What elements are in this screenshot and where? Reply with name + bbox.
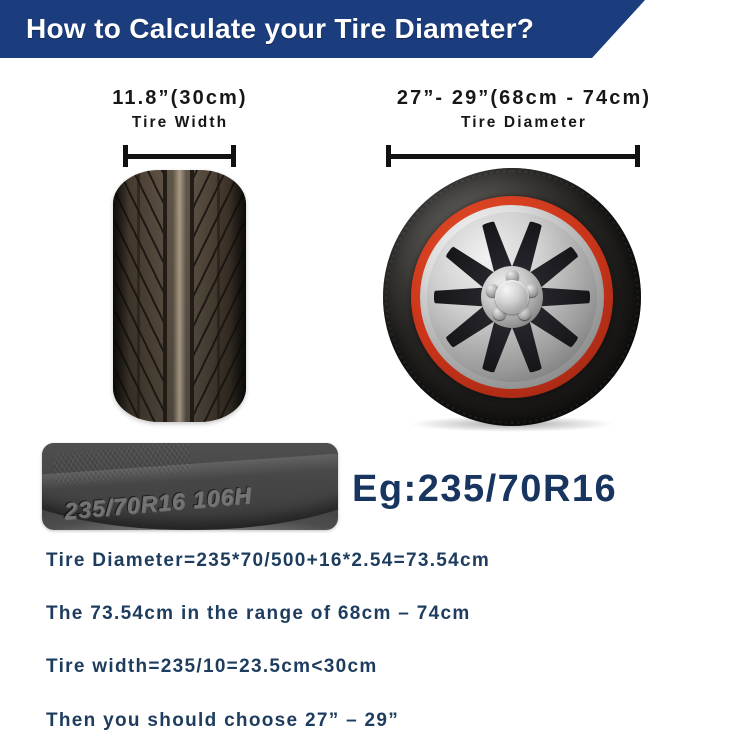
tire-diameter-dimension-bar	[386, 145, 640, 167]
dimension-line	[123, 154, 236, 159]
tire-diameter-value: 27”- 29”(68cm - 74cm)	[338, 86, 710, 110]
tread-shoulder-left	[113, 170, 129, 422]
tire-width-dimension-bar	[123, 145, 236, 167]
formula-line-recommend: Then you should choose 27” – 29”	[46, 710, 399, 732]
formula-line-width: Tire width=235/10=23.5cm<30cm	[46, 656, 378, 678]
example-headline: Eg:235/70R16	[352, 468, 617, 511]
tire-tread-illustration	[113, 170, 246, 422]
tire-width-name: Tire Width	[60, 112, 300, 134]
tire-width-value: 11.8”(30cm)	[60, 86, 300, 110]
tire-width-label-group: 11.8”(30cm) Tire Width	[60, 86, 300, 134]
tread-groove	[217, 170, 220, 422]
page-title: How to Calculate your Tire Diameter?	[26, 0, 534, 58]
tire-diameter-label-group: 27”- 29”(68cm - 74cm) Tire Diameter	[338, 86, 710, 134]
wheel-illustration	[383, 168, 641, 426]
tread-groove	[163, 170, 167, 422]
rim-face	[427, 212, 597, 382]
formula-line-range: The 73.54cm in the range of 68cm – 74cm	[46, 603, 471, 625]
dimension-cap-right-icon	[635, 145, 640, 167]
tread-groove	[137, 170, 140, 422]
dimension-cap-right-icon	[231, 145, 236, 167]
tire-diameter-name: Tire Diameter	[338, 112, 710, 134]
wheel-center-cap	[495, 280, 529, 314]
dimension-line	[386, 154, 640, 159]
tread-shoulder-right	[230, 170, 246, 422]
tread-groove	[190, 170, 194, 422]
tread-center-rib	[173, 170, 186, 422]
infographic-page: How to Calculate your Tire Diameter? 11.…	[0, 0, 750, 750]
formula-line-diameter: Tire Diameter=235*70/500+16*2.54=73.54cm	[46, 550, 490, 572]
tire-sidewall-photo: 235/70R16 106H	[42, 443, 338, 530]
